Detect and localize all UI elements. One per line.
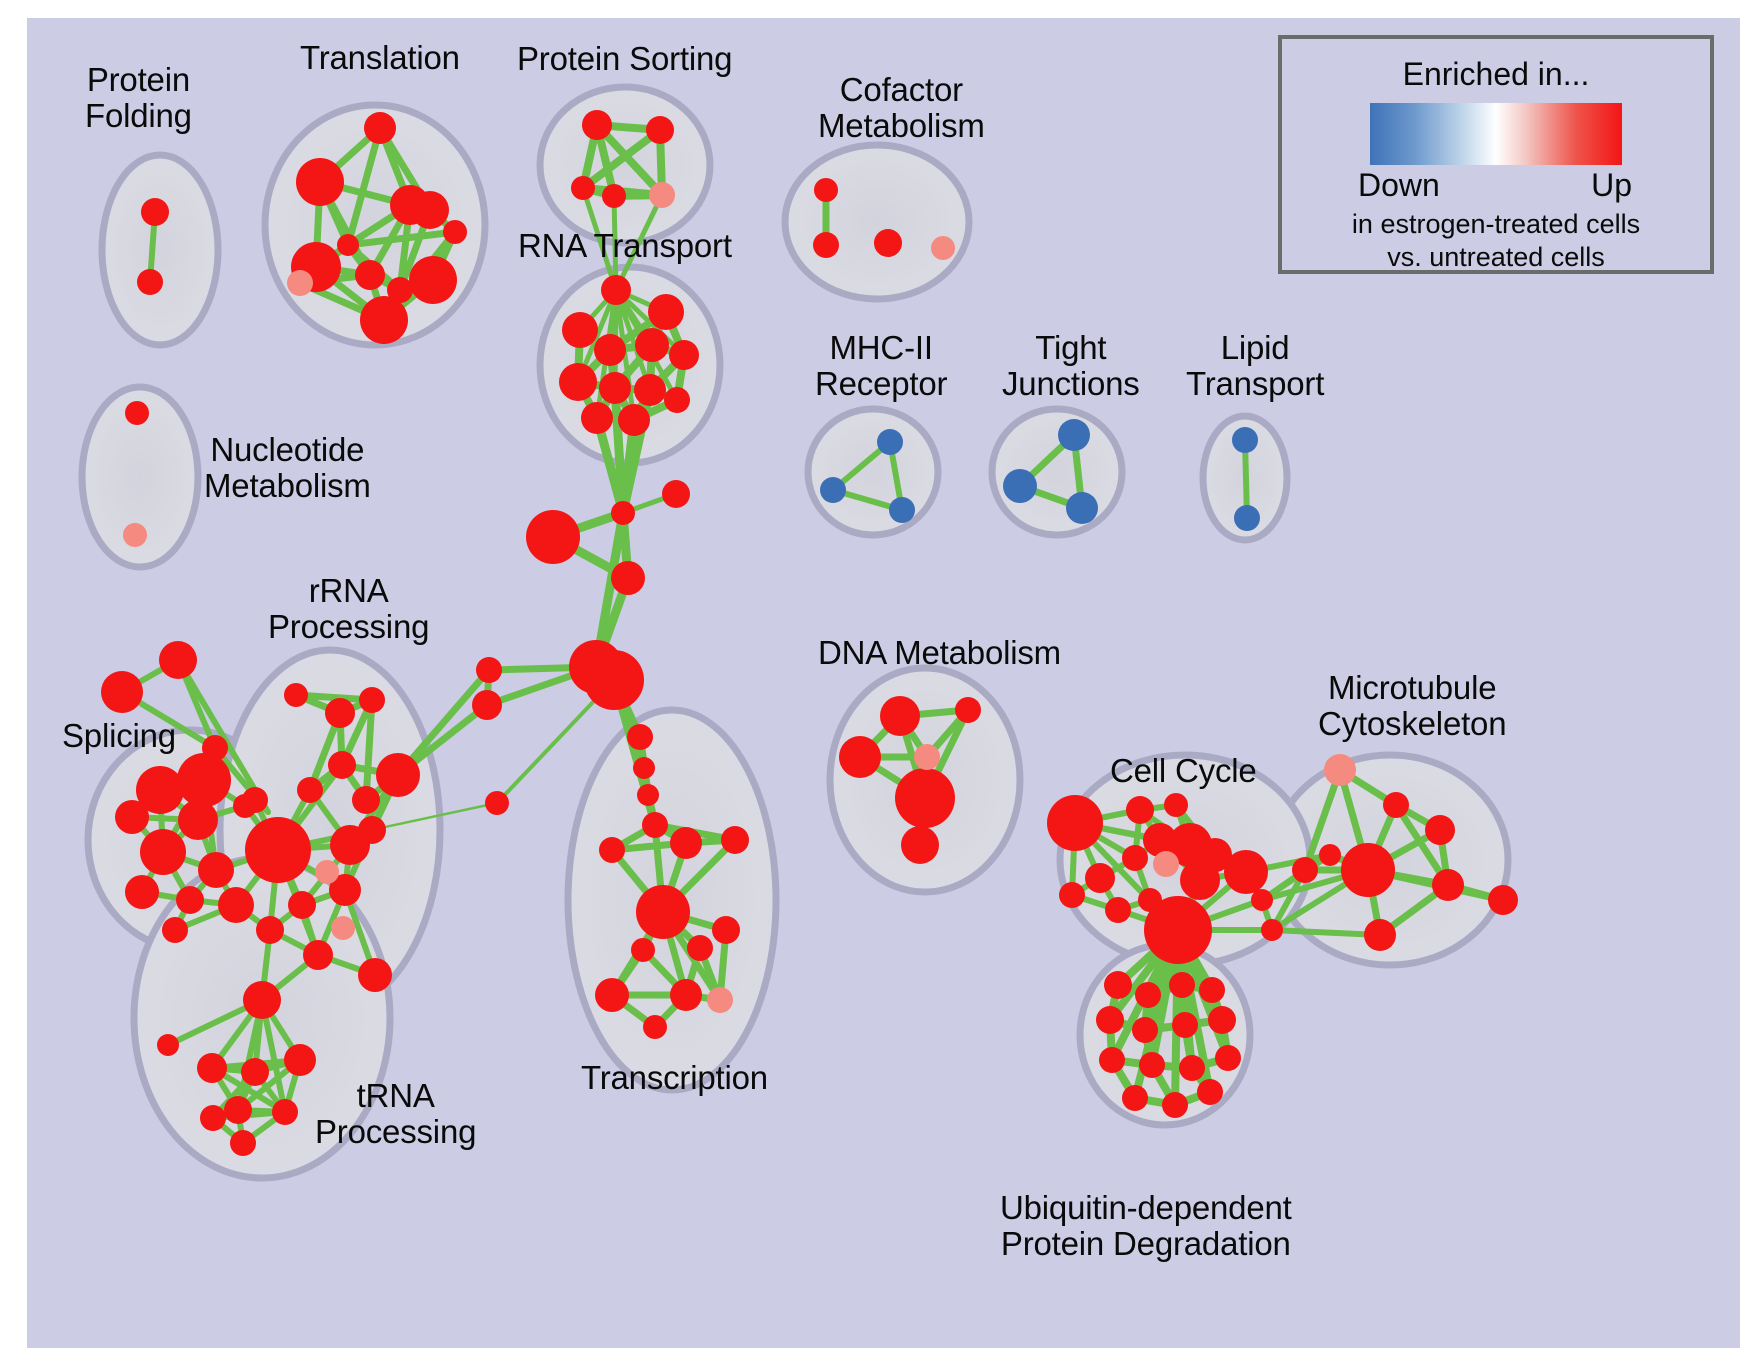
label-transcription: Transcription bbox=[581, 1060, 768, 1096]
label-nucleotide-metabolism: Nucleotide Metabolism bbox=[204, 432, 371, 503]
halo-protein-folding bbox=[102, 155, 218, 345]
label-dna-metabolism: DNA Metabolism bbox=[818, 635, 1061, 671]
legend-box: Enriched in... Down Up in estrogen-treat… bbox=[1278, 35, 1714, 274]
halo-mhcii bbox=[808, 409, 938, 535]
label-cell-cycle: Cell Cycle bbox=[1110, 753, 1257, 789]
label-tight-junctions: Tight Junctions bbox=[1002, 330, 1140, 401]
label-lipid-transport: Lipid Transport bbox=[1186, 330, 1324, 401]
legend-colorbar bbox=[1370, 103, 1622, 165]
legend-caption-line1: in estrogen-treated cells bbox=[1282, 209, 1710, 240]
label-ubiquitin-protein-degradation: Ubiquitin-dependent Protein Degradation bbox=[1000, 1190, 1292, 1261]
legend-down-label: Down bbox=[1358, 167, 1440, 204]
label-protein-folding: Protein Folding bbox=[85, 62, 192, 133]
label-rna-transport: RNA Transport bbox=[518, 228, 732, 264]
label-rrna-processing: rRNA Processing bbox=[268, 573, 429, 644]
label-protein-sorting: Protein Sorting bbox=[517, 41, 732, 77]
legend-endpoints: Down Up bbox=[1346, 167, 1646, 207]
label-trna-processing: tRNA Processing bbox=[315, 1078, 476, 1149]
label-splicing: Splicing bbox=[62, 718, 176, 754]
label-mhc-ii-receptor: MHC-II Receptor bbox=[815, 330, 947, 401]
figure-canvas: Protein Folding Translation Protein Sort… bbox=[0, 0, 1750, 1360]
label-microtubule-cytoskeleton: Microtubule Cytoskeleton bbox=[1318, 670, 1506, 741]
halo-protein-sorting bbox=[540, 87, 710, 243]
legend-up-label: Up bbox=[1591, 167, 1632, 204]
label-translation: Translation bbox=[300, 40, 460, 76]
halo-cofactor bbox=[785, 145, 969, 299]
label-cofactor-metabolism: Cofactor Metabolism bbox=[818, 72, 985, 143]
legend-title: Enriched in... bbox=[1282, 56, 1710, 93]
legend-caption-line2: vs. untreated cells bbox=[1282, 242, 1710, 273]
